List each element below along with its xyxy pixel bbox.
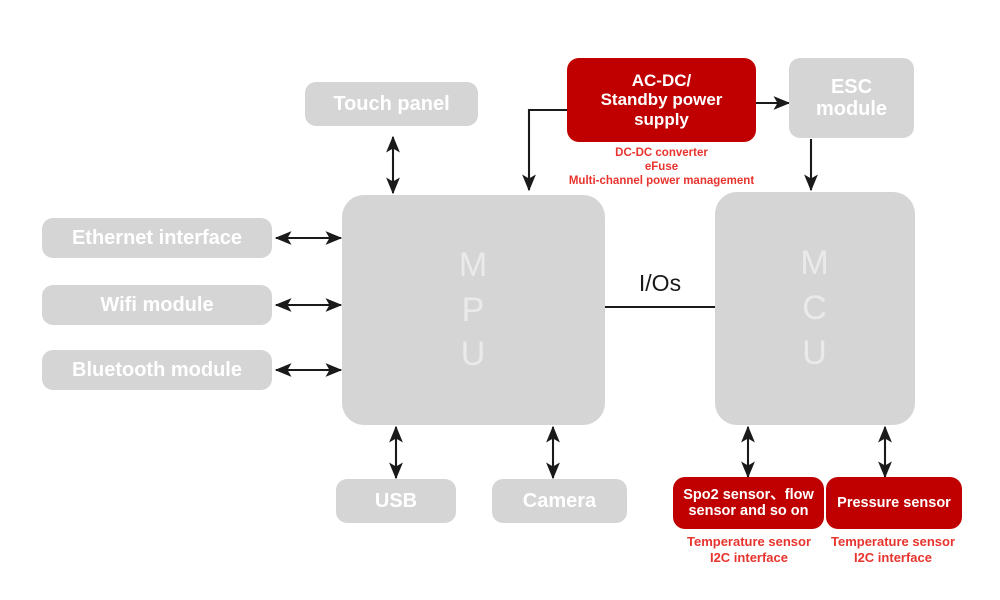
bus-label-ios-text: I/Os (639, 270, 681, 296)
esc-module-line-1: ESC (816, 76, 887, 98)
caption-power-line-2: eFuse (540, 160, 783, 174)
block-wifi-module-label: Wifi module (100, 294, 213, 316)
mpu-letter-p: P (459, 288, 488, 333)
mcu-letter-u: U (800, 331, 829, 376)
block-ethernet-interface[interactable]: Ethernet interface (42, 218, 272, 258)
mcu-letter-c: C (800, 286, 829, 331)
block-sensor-pressure[interactable]: Pressure sensor (826, 477, 962, 529)
sensor-pressure-line-1: Pressure sensor (837, 495, 951, 511)
power-supply-line-1: AC-DC/ (601, 71, 723, 90)
mpu-letter-m: M (459, 243, 488, 288)
caption-sensor-pressure-line-2: I2C interface (808, 550, 978, 566)
block-touch-panel[interactable]: Touch panel (305, 82, 478, 126)
block-usb-label: USB (375, 490, 417, 512)
sensor-spo2-line-2: sensor and so on (683, 503, 814, 519)
block-esc-module-label: ESC module (816, 76, 887, 121)
caption-power-line-3: Multi-channel power management (540, 174, 783, 188)
block-mcu[interactable]: M C U (715, 192, 915, 425)
block-touch-panel-label: Touch panel (333, 93, 449, 115)
block-sensor-pressure-label: Pressure sensor (837, 495, 951, 511)
block-ethernet-interface-label: Ethernet interface (72, 227, 242, 249)
mcu-letter-m: M (800, 241, 829, 286)
block-sensor-spo2-label: Spo2 sensor、flow sensor and so on (683, 487, 814, 519)
block-power-supply[interactable]: AC-DC/ Standby power supply (567, 58, 756, 142)
block-usb[interactable]: USB (336, 479, 456, 523)
block-camera-label: Camera (523, 490, 596, 512)
sensor-spo2-line-1: Spo2 sensor、flow (683, 487, 814, 503)
block-power-supply-label: AC-DC/ Standby power supply (601, 71, 723, 128)
block-mcu-label: M C U (800, 241, 829, 376)
diagram-canvas: Ethernet interface Wifi module Bluetooth… (0, 0, 1000, 600)
block-wifi-module[interactable]: Wifi module (42, 285, 272, 325)
power-supply-line-3: supply (601, 110, 723, 129)
caption-power-supply: DC-DC converter eFuse Multi-channel powe… (540, 146, 783, 188)
block-sensor-spo2[interactable]: Spo2 sensor、flow sensor and so on (673, 477, 824, 529)
block-camera[interactable]: Camera (492, 479, 627, 523)
block-esc-module[interactable]: ESC module (789, 58, 914, 138)
power-supply-line-2: Standby power (601, 90, 723, 109)
mpu-letter-u: U (459, 332, 488, 377)
bus-label-ios: I/Os (604, 270, 716, 297)
block-mpu[interactable]: M P U (342, 195, 605, 425)
caption-sensor-pressure: Temperature sensor I2C interface (808, 534, 978, 566)
esc-module-line-2: module (816, 98, 887, 120)
block-mpu-label: M P U (459, 243, 488, 378)
caption-sensor-pressure-line-1: Temperature sensor (808, 534, 978, 550)
block-bluetooth-module-label: Bluetooth module (72, 359, 242, 381)
caption-power-line-1: DC-DC converter (540, 146, 783, 160)
block-bluetooth-module[interactable]: Bluetooth module (42, 350, 272, 390)
